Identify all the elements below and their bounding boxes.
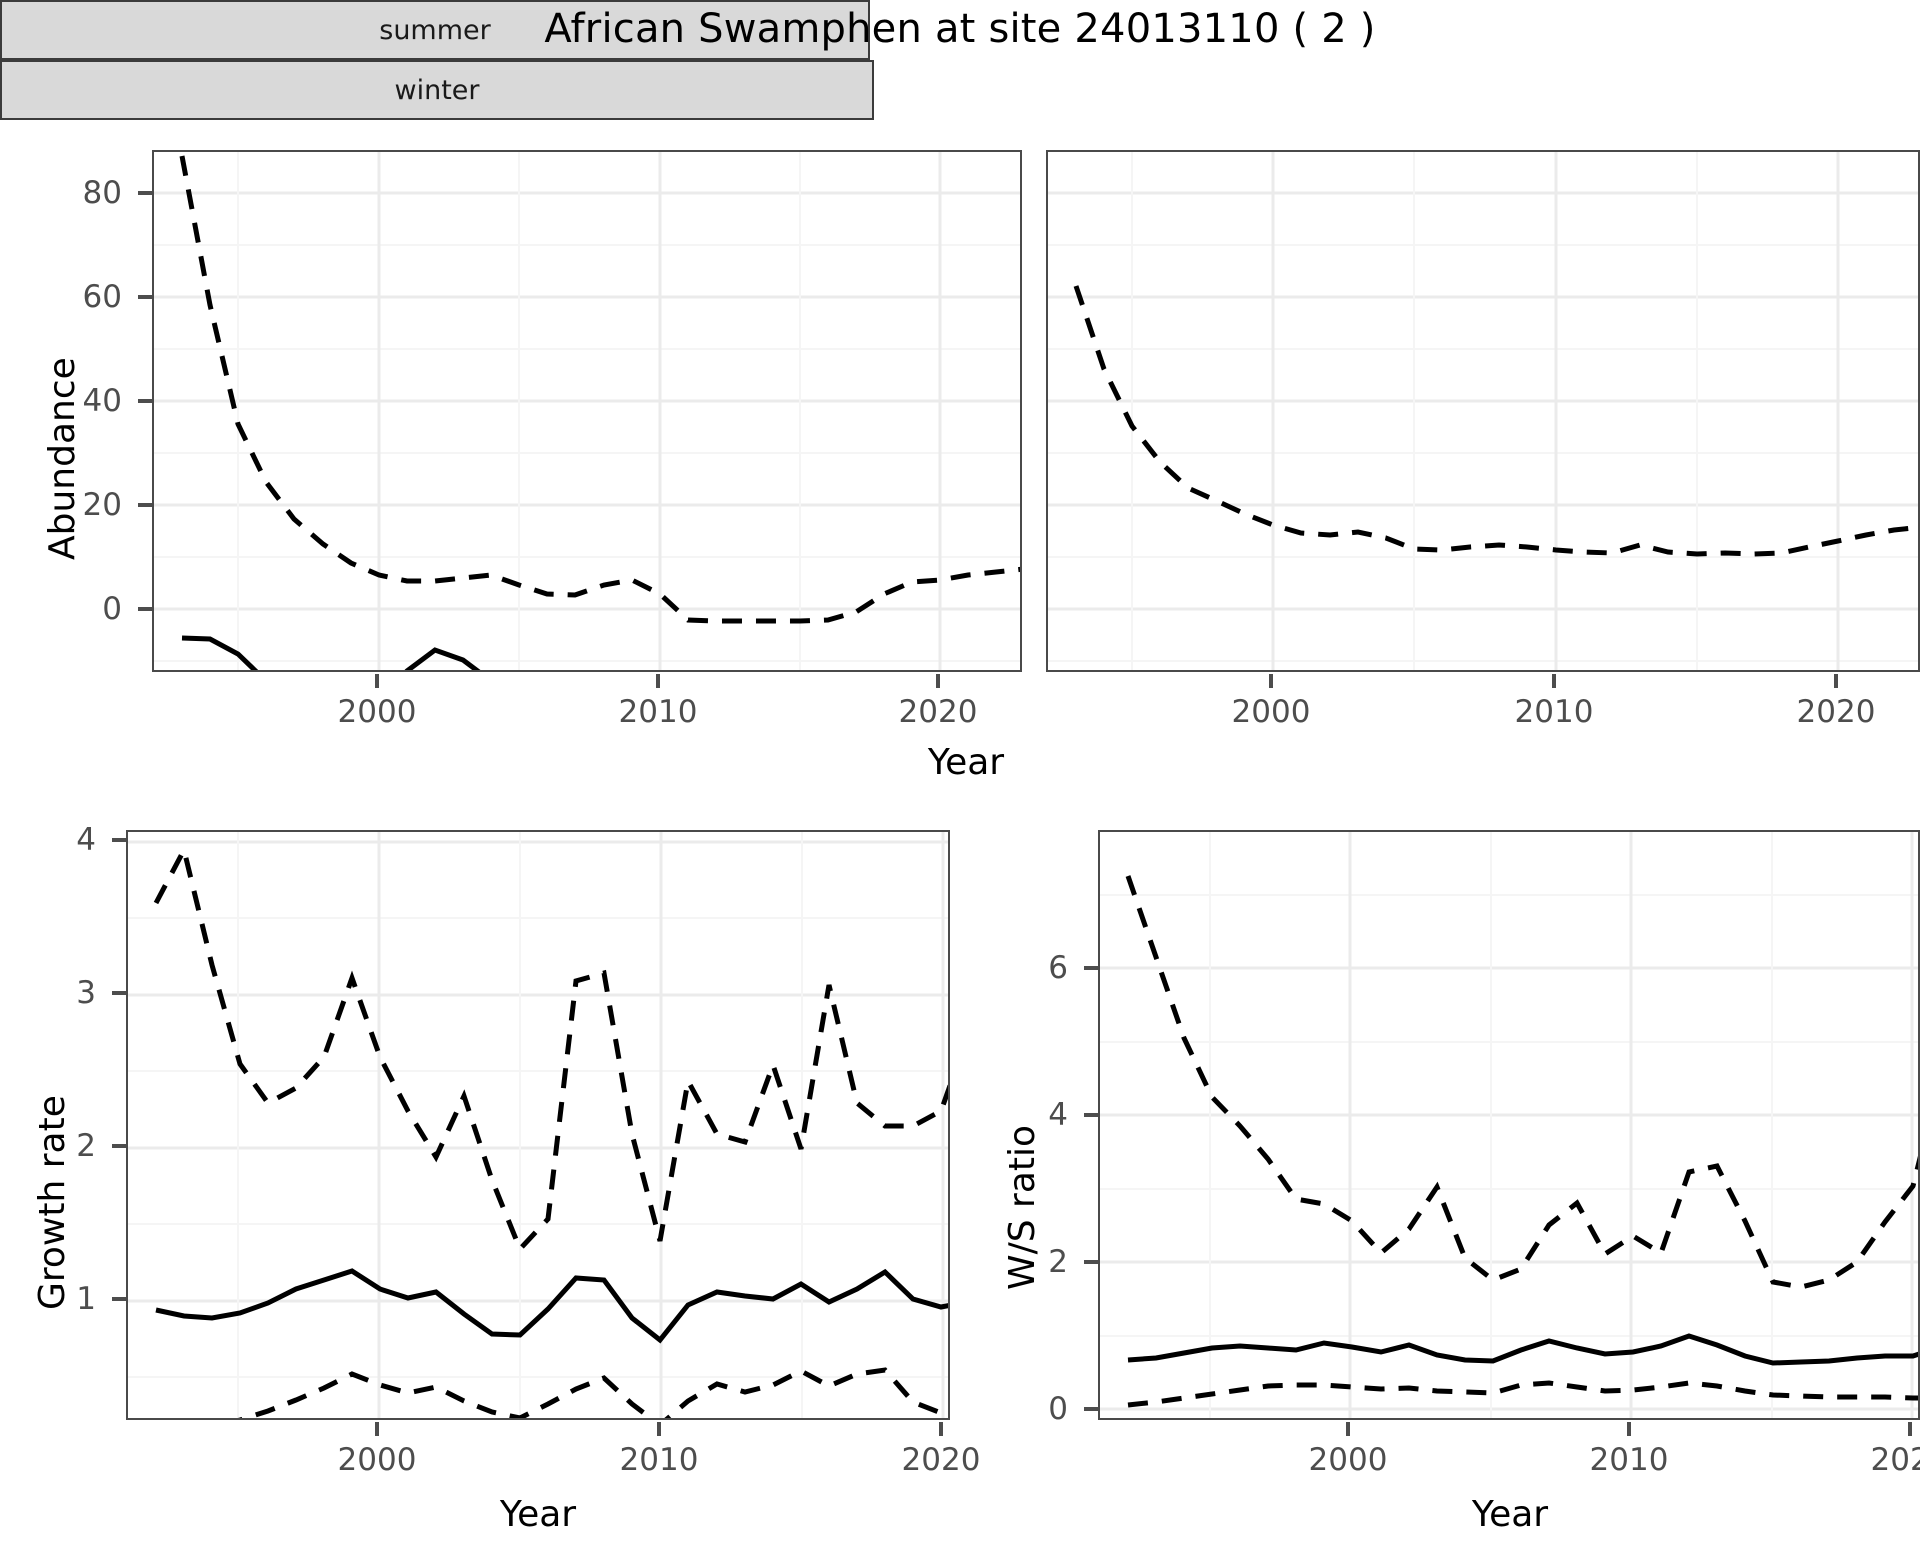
abundance-summer-xtickmark-2010 <box>656 674 660 688</box>
ws-ratio-xtick-2020: 2020 <box>1840 1442 1920 1478</box>
abundance-winter-xtickmark-2000 <box>1269 674 1273 688</box>
growth-rate-x-axis-title: Year <box>408 1494 668 1535</box>
lower-ci-line <box>1128 1383 1920 1405</box>
growth-rate-xtickmark-2010 <box>657 1422 661 1436</box>
growth-rate-xtick-2010: 2010 <box>589 1442 729 1478</box>
growth-rate-panel <box>126 830 950 1420</box>
growth-rate-ytick-4: 4 <box>38 822 96 858</box>
upper-ci-line <box>156 850 950 1249</box>
abundance-winter-xtick-2010: 2010 <box>1484 694 1624 730</box>
ws-ratio-ytick-0: 0 <box>1010 1391 1068 1427</box>
ws-ratio-ytick-2: 2 <box>1010 1244 1068 1280</box>
ws-ratio-ytick-6: 6 <box>1010 950 1068 986</box>
abundance-ytickmark-20 <box>138 503 152 507</box>
growth-rate-series <box>156 850 950 1420</box>
grid-lines <box>128 832 950 1420</box>
ws-ratio-xtickmark-2020 <box>1908 1422 1912 1436</box>
facet-strip-winter: winter <box>0 60 874 120</box>
abundance-summer-series <box>182 156 1022 672</box>
abundance-winter-xtickmark-2010 <box>1552 674 1556 688</box>
growth-rate-xtickmark-2000 <box>375 1422 379 1436</box>
abundance-panel-winter <box>1046 150 1920 672</box>
growth-rate-xtick-2000: 2000 <box>307 1442 447 1478</box>
ws-ratio-xtickmark-2000 <box>1346 1422 1350 1436</box>
growth-rate-svg <box>128 832 950 1420</box>
abundance-ytickmark-0 <box>138 607 152 611</box>
upper-ci-line <box>1076 286 1920 554</box>
ws-ratio-ytickmark-6 <box>1084 966 1098 970</box>
ws-ratio-svg <box>1100 832 1920 1420</box>
chart-page: African Swamphen at site 24013110 ( 2 ) … <box>0 0 1920 1560</box>
abundance-ytickmark-60 <box>138 295 152 299</box>
abundance-ytick-40: 40 <box>60 383 122 419</box>
ws-ratio-series <box>1128 876 1920 1405</box>
growth-rate-ytickmark-3 <box>112 991 126 995</box>
ws-ratio-xtick-2010: 2010 <box>1559 1442 1699 1478</box>
abundance-summer-svg <box>154 152 1022 672</box>
abundance-summer-xtickmark-2020 <box>936 674 940 688</box>
abundance-ytickmark-80 <box>138 191 152 195</box>
abundance-ytick-0: 0 <box>60 591 122 627</box>
ws-ratio-ytick-4: 4 <box>1010 1097 1068 1133</box>
median-line <box>1128 1336 1920 1363</box>
abundance-ytickmark-40 <box>138 399 152 403</box>
abundance-winter-xtickmark-2020 <box>1834 674 1838 688</box>
abundance-ytick-80: 80 <box>60 175 122 211</box>
median-line <box>182 638 1022 672</box>
abundance-winter-svg <box>1048 152 1920 672</box>
abundance-winter-xtick-2020: 2020 <box>1766 694 1906 730</box>
growth-rate-xtickmark-2020 <box>939 1422 943 1436</box>
page-title: African Swamphen at site 24013110 ( 2 ) <box>0 6 1920 52</box>
growth-rate-ytick-3: 3 <box>38 975 96 1011</box>
abundance-summer-xtick-2010: 2010 <box>588 694 728 730</box>
grid-lines <box>154 152 1022 672</box>
grid-lines <box>1100 832 1920 1420</box>
abundance-summer-xtick-2000: 2000 <box>307 694 447 730</box>
growth-rate-ytickmark-4 <box>112 838 126 842</box>
abundance-ytick-20: 20 <box>60 487 122 523</box>
ws-ratio-ytickmark-0 <box>1084 1407 1098 1411</box>
upper-ci-line <box>182 156 1022 621</box>
ws-ratio-x-axis-title: Year <box>1380 1494 1640 1535</box>
growth-rate-ytickmark-2 <box>112 1144 126 1148</box>
abundance-summer-xtick-2020: 2020 <box>868 694 1008 730</box>
grid-lines <box>1048 152 1920 672</box>
abundance-winter-xtick-2000: 2000 <box>1201 694 1341 730</box>
growth-rate-ytickmark-1 <box>112 1297 126 1301</box>
abundance-summer-xtickmark-2000 <box>375 674 379 688</box>
growth-rate-xtick-2020: 2020 <box>871 1442 1011 1478</box>
upper-ci-line <box>1128 876 1920 1287</box>
ws-ratio-ytickmark-4 <box>1084 1113 1098 1117</box>
growth-rate-ytick-2: 2 <box>38 1128 96 1164</box>
abundance-x-axis-title: Year <box>836 742 1096 783</box>
ws-ratio-panel <box>1098 830 1920 1420</box>
abundance-ytick-60: 60 <box>60 279 122 315</box>
ws-ratio-xtickmark-2010 <box>1627 1422 1631 1436</box>
ws-ratio-ytickmark-2 <box>1084 1260 1098 1264</box>
growth-rate-ytick-1: 1 <box>38 1281 96 1317</box>
ws-ratio-xtick-2000: 2000 <box>1278 1442 1418 1478</box>
abundance-panel-summer <box>152 150 1022 672</box>
abundance-winter-series <box>1076 286 1920 672</box>
facet-strip-winter-label: winter <box>395 75 480 106</box>
median-line <box>156 1271 950 1340</box>
